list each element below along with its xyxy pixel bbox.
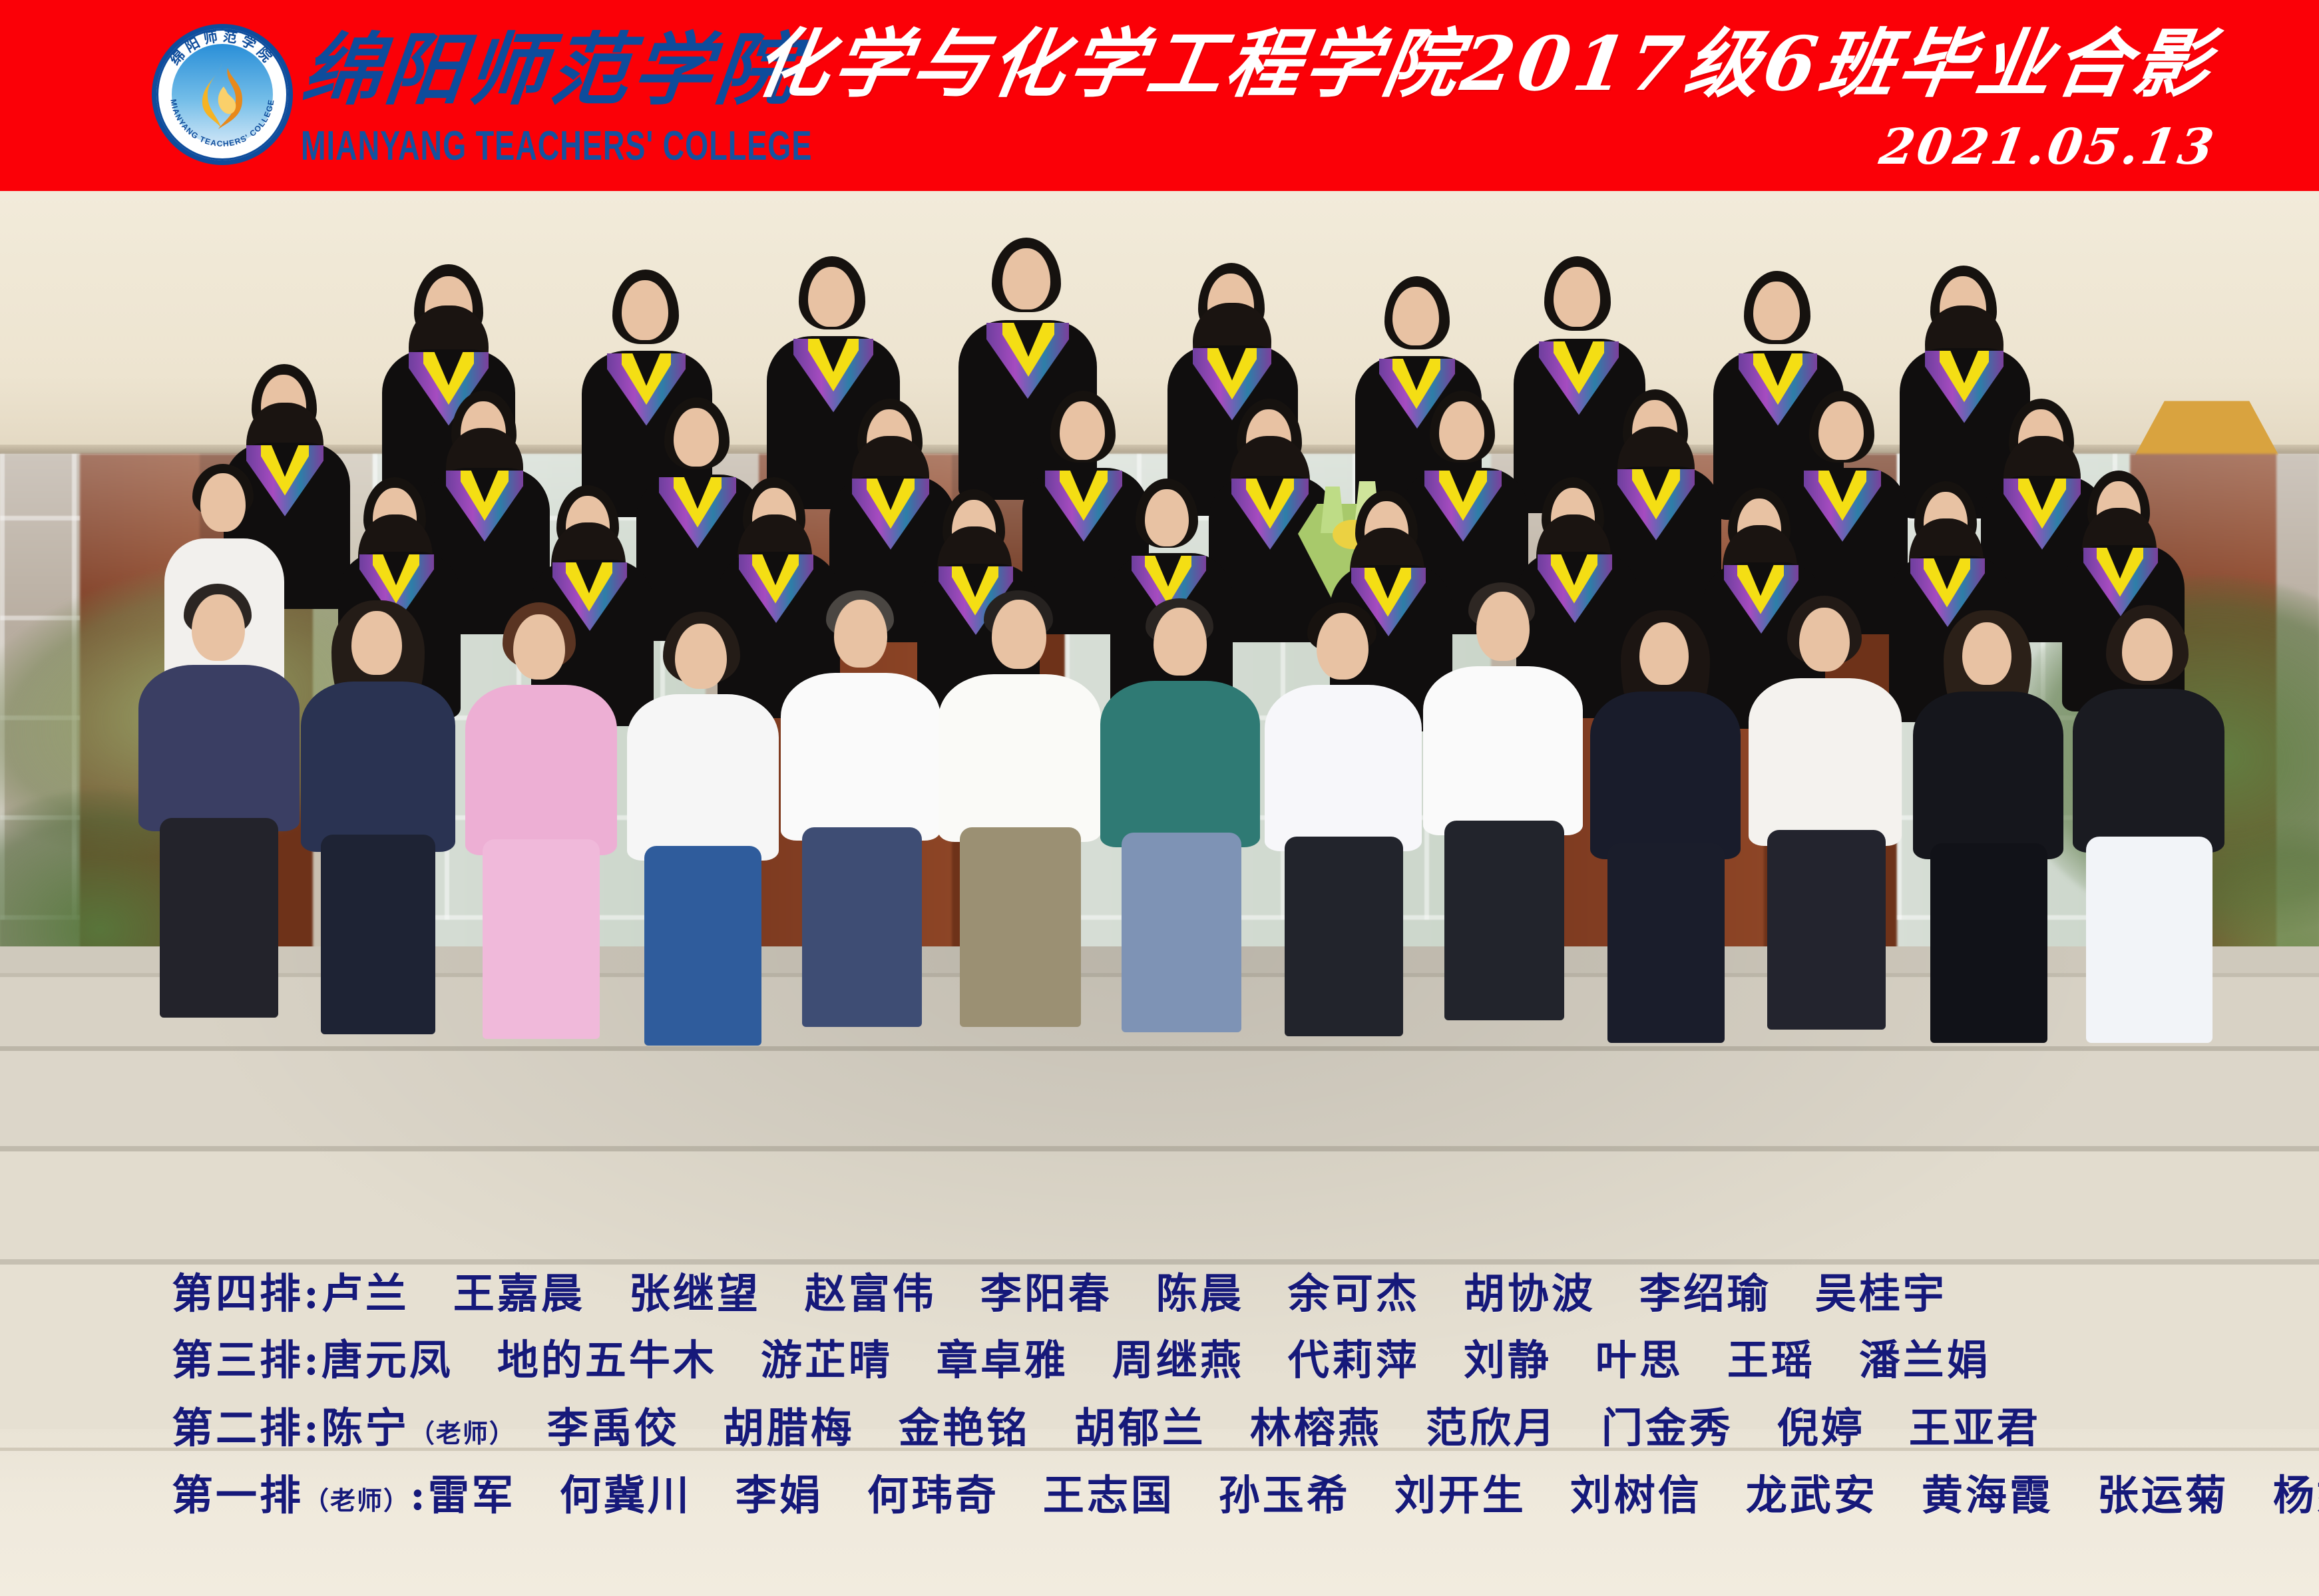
foreground-pavement [0, 1429, 2319, 1596]
college-seal-logo: 绵阳师范学院 MIANYANG TEACHERS' COLLEGE [152, 24, 293, 165]
svg-text:MIANYANG TEACHERS' COLLEGE: MIANYANG TEACHERS' COLLEGE [168, 99, 276, 148]
graduation-group-photo-page: 绵阳师范学院 MIANYANG TEACHERS' COLLEGE 绵阳师范学院… [0, 0, 2319, 1596]
svg-text:绵阳师范学院: 绵阳师范学院 [167, 29, 278, 68]
college-name-en: MIANYANG TEACHERS' COLLEGE [301, 121, 812, 170]
group-photograph: 化学与化学工程学院 COLLEGE OF CHEMISTRY AND CHEMI… [0, 191, 2319, 1596]
red-banner: 绵阳师范学院 MIANYANG TEACHERS' COLLEGE 绵阳师范学院… [0, 0, 2319, 191]
college-name-cn: 绵阳师范学院 [299, 31, 802, 109]
seal-arc-text: 绵阳师范学院 MIANYANG TEACHERS' COLLEGE [152, 24, 293, 165]
banner-date: 2021.05.13 [1876, 118, 2220, 176]
banner-title: 化学与化学工程学院2017级6班毕业合影 [749, 25, 2219, 104]
